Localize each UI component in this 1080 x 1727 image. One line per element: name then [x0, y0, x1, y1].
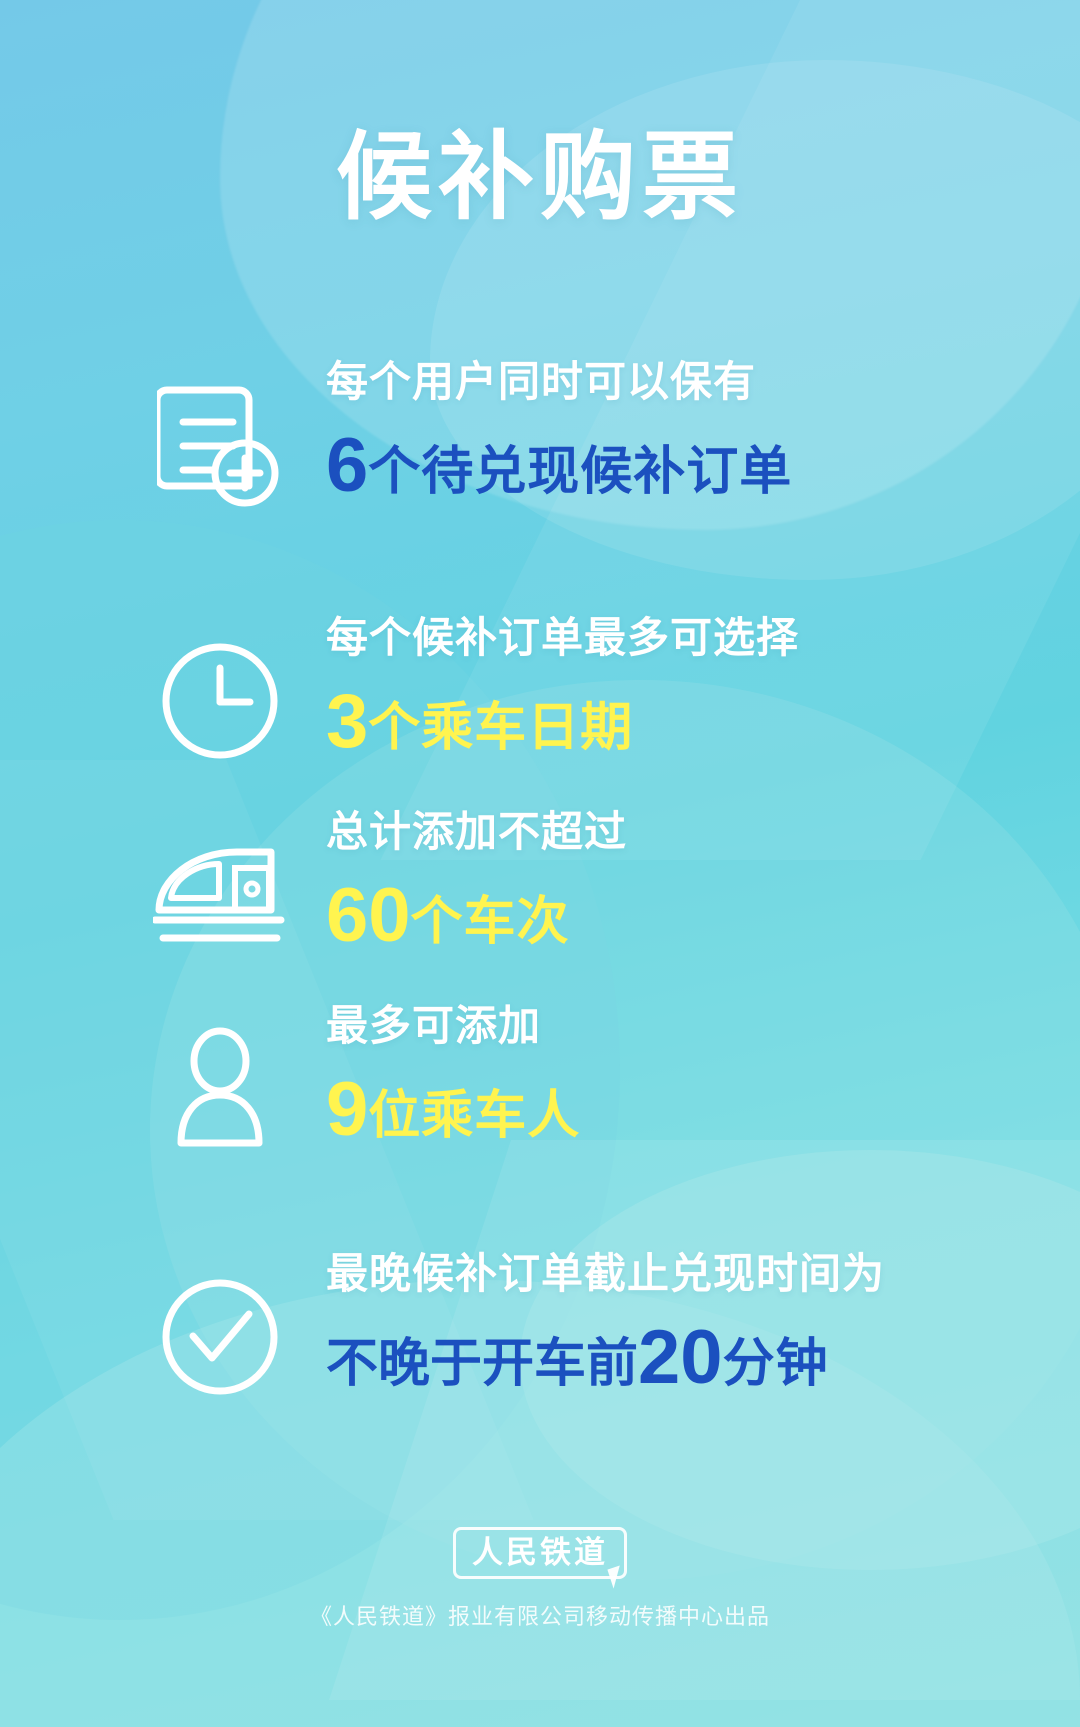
- check-circle-icon: [150, 1262, 290, 1412]
- page-title: 候补购票: [0, 128, 1080, 229]
- fact-bottom-line: 9位乘车人: [326, 1065, 580, 1155]
- fact-row-deadline: 最晚候补订单截止兑现时间为 不晚于开车前20分钟: [0, 1244, 1080, 1412]
- fact-top-line: 每个候补订单最多可选择: [326, 612, 799, 665]
- fact-bottom-line: 60个车次: [326, 871, 627, 961]
- fact-text: 总计添加不超过 60个车次: [290, 802, 627, 960]
- fact-text: 最多可添加 9位乘车人: [290, 996, 580, 1154]
- document-plus-icon: [150, 370, 290, 520]
- fact-row-trains: 总计添加不超过 60个车次: [0, 802, 1080, 970]
- footer-caption: 《人民铁道》报业有限公司移动传播中心出品: [0, 1599, 1080, 1631]
- fact-unit: 个车次: [411, 893, 570, 951]
- fact-top-line: 最多可添加: [326, 1000, 580, 1053]
- fact-row-dates: 每个候补订单最多可选择 3个乘车日期: [0, 608, 1080, 776]
- clock-icon: [150, 626, 290, 776]
- fact-lead: 不晚于开车前: [326, 1335, 638, 1393]
- poster-canvas: 候补购票 每个用户同时可以保有 6个待: [0, 0, 1080, 1727]
- fact-number: 6: [326, 423, 368, 508]
- publisher-logo-text: 人民铁道: [472, 1537, 608, 1568]
- fact-top-line: 总计添加不超过: [326, 806, 627, 859]
- fact-text: 每个用户同时可以保有 6个待兑现候补订单: [290, 352, 792, 510]
- fact-unit: 个乘车日期: [368, 699, 633, 757]
- fact-list: 每个用户同时可以保有 6个待兑现候补订单 每个候补订单最多可选择 3个乘车日期: [0, 352, 1080, 1412]
- fact-bottom-line: 6个待兑现候补订单: [326, 421, 792, 511]
- person-icon: [150, 1014, 290, 1164]
- train-icon: [150, 820, 290, 970]
- fact-number: 3: [326, 679, 368, 764]
- fact-text: 最晚候补订单截止兑现时间为 不晚于开车前20分钟: [290, 1244, 885, 1402]
- footer: 人民铁道 《人民铁道》报业有限公司移动传播中心出品: [0, 1527, 1080, 1631]
- fact-bottom-line: 不晚于开车前20分钟: [326, 1313, 885, 1403]
- fact-number: 60: [326, 873, 411, 958]
- publisher-logo: 人民铁道: [453, 1527, 627, 1579]
- poster-content: 候补购票 每个用户同时可以保有 6个待: [0, 0, 1080, 1727]
- fact-bottom-line: 3个乘车日期: [326, 677, 799, 767]
- fact-top-line: 最晚候补订单截止兑现时间为: [326, 1248, 885, 1301]
- fact-row-orders: 每个用户同时可以保有 6个待兑现候补订单: [0, 352, 1080, 520]
- fact-number: 20: [638, 1315, 723, 1400]
- cursor-arrow-icon: [607, 1563, 632, 1588]
- fact-top-line: 每个用户同时可以保有: [326, 356, 792, 409]
- fact-unit: 分钟: [723, 1335, 829, 1393]
- fact-unit: 位乘车人: [368, 1087, 580, 1145]
- fact-text: 每个候补订单最多可选择 3个乘车日期: [290, 608, 799, 766]
- fact-row-passengers: 最多可添加 9位乘车人: [0, 996, 1080, 1164]
- fact-unit: 个待兑现候补订单: [368, 443, 792, 501]
- fact-number: 9: [326, 1067, 368, 1152]
